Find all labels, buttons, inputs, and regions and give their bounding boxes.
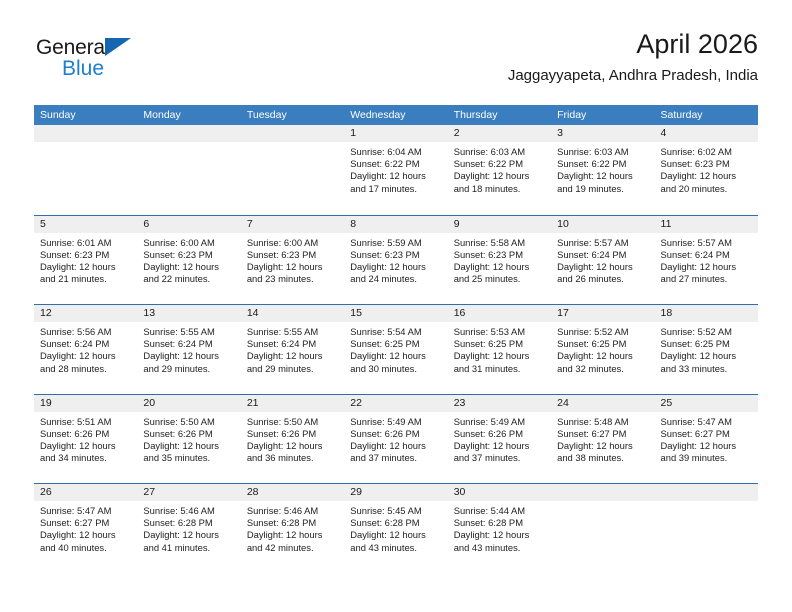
day-cell[interactable]: 4 Sunrise: 6:02 AM Sunset: 6:23 PM Dayli… <box>655 125 758 215</box>
daylight-text-line2: and 34 minutes. <box>40 452 131 464</box>
day-number <box>241 125 344 142</box>
page-header: General Blue April 2026 Jaggayyapeta, An… <box>34 28 758 98</box>
sunrise-text: Sunrise: 5:49 AM <box>350 416 441 428</box>
daylight-text-line1: Daylight: 12 hours <box>247 529 338 541</box>
sunset-text: Sunset: 6:25 PM <box>557 338 648 350</box>
day-details: Sunrise: 5:55 AM Sunset: 6:24 PM Dayligh… <box>137 322 240 375</box>
sunrise-text: Sunrise: 6:03 AM <box>557 146 648 158</box>
day-details: Sunrise: 5:49 AM Sunset: 6:26 PM Dayligh… <box>448 412 551 465</box>
calendar-grid: Sunday Monday Tuesday Wednesday Thursday… <box>34 105 758 573</box>
day-cell <box>241 125 344 215</box>
sunset-text: Sunset: 6:23 PM <box>350 249 441 261</box>
day-cell[interactable]: 19 Sunrise: 5:51 AM Sunset: 6:26 PM Dayl… <box>34 395 137 484</box>
daylight-text-line2: and 21 minutes. <box>40 273 131 285</box>
day-number <box>137 125 240 142</box>
daylight-text-line1: Daylight: 12 hours <box>557 350 648 362</box>
day-details: Sunrise: 6:00 AM Sunset: 6:23 PM Dayligh… <box>137 233 240 286</box>
sunrise-text: Sunrise: 6:01 AM <box>40 237 131 249</box>
daylight-text-line2: and 38 minutes. <box>557 452 648 464</box>
day-cell[interactable]: 6 Sunrise: 6:00 AM Sunset: 6:23 PM Dayli… <box>137 216 240 305</box>
day-number: 12 <box>34 305 137 322</box>
sunrise-text: Sunrise: 5:56 AM <box>40 326 131 338</box>
day-details: Sunrise: 6:01 AM Sunset: 6:23 PM Dayligh… <box>34 233 137 286</box>
location-subtitle: Jaggayyapeta, Andhra Pradesh, India <box>508 67 758 85</box>
week-row: 5 Sunrise: 6:01 AM Sunset: 6:23 PM Dayli… <box>34 215 758 305</box>
day-number: 4 <box>655 125 758 142</box>
sunset-text: Sunset: 6:26 PM <box>40 428 131 440</box>
day-number: 24 <box>551 395 654 412</box>
weekday-header-wednesday: Wednesday <box>344 105 447 125</box>
week-row: 19 Sunrise: 5:51 AM Sunset: 6:26 PM Dayl… <box>34 394 758 484</box>
day-number: 17 <box>551 305 654 322</box>
day-cell[interactable]: 7 Sunrise: 6:00 AM Sunset: 6:23 PM Dayli… <box>241 216 344 305</box>
day-cell <box>655 484 758 573</box>
day-number: 5 <box>34 216 137 233</box>
sunrise-text: Sunrise: 5:52 AM <box>557 326 648 338</box>
day-cell[interactable]: 12 Sunrise: 5:56 AM Sunset: 6:24 PM Dayl… <box>34 305 137 394</box>
day-number: 6 <box>137 216 240 233</box>
sunrise-text: Sunrise: 5:52 AM <box>661 326 752 338</box>
sunrise-text: Sunrise: 5:57 AM <box>557 237 648 249</box>
daylight-text-line2: and 32 minutes. <box>557 363 648 375</box>
day-number: 30 <box>448 484 551 501</box>
day-number: 15 <box>344 305 447 322</box>
sunset-text: Sunset: 6:25 PM <box>350 338 441 350</box>
day-number: 7 <box>241 216 344 233</box>
day-details: Sunrise: 5:55 AM Sunset: 6:24 PM Dayligh… <box>241 322 344 375</box>
day-number: 3 <box>551 125 654 142</box>
daylight-text-line2: and 19 minutes. <box>557 183 648 195</box>
sunset-text: Sunset: 6:27 PM <box>661 428 752 440</box>
day-cell[interactable]: 17 Sunrise: 5:52 AM Sunset: 6:25 PM Dayl… <box>551 305 654 394</box>
daylight-text-line2: and 18 minutes. <box>454 183 545 195</box>
sunset-text: Sunset: 6:27 PM <box>40 517 131 529</box>
sunset-text: Sunset: 6:27 PM <box>557 428 648 440</box>
day-number <box>655 484 758 501</box>
day-details: Sunrise: 6:00 AM Sunset: 6:23 PM Dayligh… <box>241 233 344 286</box>
sunset-text: Sunset: 6:28 PM <box>454 517 545 529</box>
sunset-text: Sunset: 6:24 PM <box>40 338 131 350</box>
daylight-text-line1: Daylight: 12 hours <box>454 261 545 273</box>
day-cell[interactable]: 21 Sunrise: 5:50 AM Sunset: 6:26 PM Dayl… <box>241 395 344 484</box>
sunset-text: Sunset: 6:23 PM <box>143 249 234 261</box>
daylight-text-line2: and 39 minutes. <box>661 452 752 464</box>
daylight-text-line2: and 42 minutes. <box>247 542 338 554</box>
day-number: 2 <box>448 125 551 142</box>
day-number: 9 <box>448 216 551 233</box>
day-details: Sunrise: 5:54 AM Sunset: 6:25 PM Dayligh… <box>344 322 447 375</box>
daylight-text-line1: Daylight: 12 hours <box>454 529 545 541</box>
sunset-text: Sunset: 6:23 PM <box>40 249 131 261</box>
sunrise-text: Sunrise: 5:47 AM <box>661 416 752 428</box>
sunset-text: Sunset: 6:22 PM <box>350 158 441 170</box>
day-number: 11 <box>655 216 758 233</box>
weekday-header-row: Sunday Monday Tuesday Wednesday Thursday… <box>34 105 758 125</box>
sunrise-text: Sunrise: 5:58 AM <box>454 237 545 249</box>
daylight-text-line1: Daylight: 12 hours <box>143 529 234 541</box>
sunrise-text: Sunrise: 5:57 AM <box>661 237 752 249</box>
sunset-text: Sunset: 6:24 PM <box>143 338 234 350</box>
daylight-text-line1: Daylight: 12 hours <box>454 170 545 182</box>
day-cell[interactable]: 9 Sunrise: 5:58 AM Sunset: 6:23 PM Dayli… <box>448 216 551 305</box>
page-title: April 2026 <box>508 28 758 60</box>
day-details: Sunrise: 5:45 AM Sunset: 6:28 PM Dayligh… <box>344 501 447 554</box>
daylight-text-line1: Daylight: 12 hours <box>350 261 441 273</box>
sunset-text: Sunset: 6:25 PM <box>661 338 752 350</box>
day-cell[interactable]: 27 Sunrise: 5:46 AM Sunset: 6:28 PM Dayl… <box>137 484 240 573</box>
day-details: Sunrise: 6:03 AM Sunset: 6:22 PM Dayligh… <box>551 142 654 195</box>
week-row: 26 Sunrise: 5:47 AM Sunset: 6:27 PM Dayl… <box>34 483 758 573</box>
daylight-text-line2: and 22 minutes. <box>143 273 234 285</box>
day-cell[interactable]: 18 Sunrise: 5:52 AM Sunset: 6:25 PM Dayl… <box>655 305 758 394</box>
sunset-text: Sunset: 6:23 PM <box>454 249 545 261</box>
day-number: 10 <box>551 216 654 233</box>
daylight-text-line2: and 23 minutes. <box>247 273 338 285</box>
title-block: April 2026 Jaggayyapeta, Andhra Pradesh,… <box>508 28 758 85</box>
daylight-text-line2: and 31 minutes. <box>454 363 545 375</box>
day-number: 14 <box>241 305 344 322</box>
daylight-text-line2: and 35 minutes. <box>143 452 234 464</box>
day-cell[interactable]: 20 Sunrise: 5:50 AM Sunset: 6:26 PM Dayl… <box>137 395 240 484</box>
daylight-text-line1: Daylight: 12 hours <box>143 440 234 452</box>
day-details: Sunrise: 5:58 AM Sunset: 6:23 PM Dayligh… <box>448 233 551 286</box>
day-cell[interactable]: 24 Sunrise: 5:48 AM Sunset: 6:27 PM Dayl… <box>551 395 654 484</box>
day-number: 13 <box>137 305 240 322</box>
day-cell[interactable]: 15 Sunrise: 5:54 AM Sunset: 6:25 PM Dayl… <box>344 305 447 394</box>
day-cell <box>34 125 137 215</box>
day-number: 29 <box>344 484 447 501</box>
day-cell[interactable]: 22 Sunrise: 5:49 AM Sunset: 6:26 PM Dayl… <box>344 395 447 484</box>
sunrise-text: Sunrise: 5:59 AM <box>350 237 441 249</box>
day-details: Sunrise: 6:03 AM Sunset: 6:22 PM Dayligh… <box>448 142 551 195</box>
daylight-text-line2: and 33 minutes. <box>661 363 752 375</box>
day-number: 25 <box>655 395 758 412</box>
sunset-text: Sunset: 6:22 PM <box>557 158 648 170</box>
sunrise-text: Sunrise: 5:51 AM <box>40 416 131 428</box>
sunrise-text: Sunrise: 5:48 AM <box>557 416 648 428</box>
sunset-text: Sunset: 6:26 PM <box>350 428 441 440</box>
sunset-text: Sunset: 6:24 PM <box>557 249 648 261</box>
daylight-text-line1: Daylight: 12 hours <box>557 170 648 182</box>
daylight-text-line2: and 36 minutes. <box>247 452 338 464</box>
day-cell[interactable]: 14 Sunrise: 5:55 AM Sunset: 6:24 PM Dayl… <box>241 305 344 394</box>
day-number: 8 <box>344 216 447 233</box>
day-details: Sunrise: 5:56 AM Sunset: 6:24 PM Dayligh… <box>34 322 137 375</box>
day-cell[interactable]: 5 Sunrise: 6:01 AM Sunset: 6:23 PM Dayli… <box>34 216 137 305</box>
sunrise-text: Sunrise: 5:49 AM <box>454 416 545 428</box>
daylight-text-line1: Daylight: 12 hours <box>661 350 752 362</box>
daylight-text-line2: and 27 minutes. <box>661 273 752 285</box>
sunrise-text: Sunrise: 5:45 AM <box>350 505 441 517</box>
day-details: Sunrise: 5:52 AM Sunset: 6:25 PM Dayligh… <box>551 322 654 375</box>
day-cell[interactable]: 3 Sunrise: 6:03 AM Sunset: 6:22 PM Dayli… <box>551 125 654 215</box>
sunset-text: Sunset: 6:26 PM <box>454 428 545 440</box>
calendar-page: General Blue April 2026 Jaggayyapeta, An… <box>0 0 792 612</box>
daylight-text-line1: Daylight: 12 hours <box>350 440 441 452</box>
daylight-text-line1: Daylight: 12 hours <box>247 440 338 452</box>
day-number: 21 <box>241 395 344 412</box>
day-cell[interactable]: 8 Sunrise: 5:59 AM Sunset: 6:23 PM Dayli… <box>344 216 447 305</box>
daylight-text-line1: Daylight: 12 hours <box>661 170 752 182</box>
day-details <box>655 501 758 505</box>
sunset-text: Sunset: 6:23 PM <box>661 158 752 170</box>
day-cell[interactable]: 29 Sunrise: 5:45 AM Sunset: 6:28 PM Dayl… <box>344 484 447 573</box>
daylight-text-line1: Daylight: 12 hours <box>143 350 234 362</box>
logo-text-blue: Blue <box>62 57 104 81</box>
day-cell[interactable]: 25 Sunrise: 5:47 AM Sunset: 6:27 PM Dayl… <box>655 395 758 484</box>
daylight-text-line2: and 37 minutes. <box>350 452 441 464</box>
daylight-text-line1: Daylight: 12 hours <box>247 261 338 273</box>
sunset-text: Sunset: 6:26 PM <box>143 428 234 440</box>
weekday-header-sunday: Sunday <box>34 105 137 125</box>
day-cell[interactable]: 16 Sunrise: 5:53 AM Sunset: 6:25 PM Dayl… <box>448 305 551 394</box>
sunset-text: Sunset: 6:23 PM <box>247 249 338 261</box>
day-details: Sunrise: 6:04 AM Sunset: 6:22 PM Dayligh… <box>344 142 447 195</box>
day-details: Sunrise: 5:47 AM Sunset: 6:27 PM Dayligh… <box>34 501 137 554</box>
day-number <box>34 125 137 142</box>
day-number: 28 <box>241 484 344 501</box>
daylight-text-line1: Daylight: 12 hours <box>661 261 752 273</box>
day-details: Sunrise: 5:59 AM Sunset: 6:23 PM Dayligh… <box>344 233 447 286</box>
day-details <box>34 142 137 146</box>
day-details: Sunrise: 6:02 AM Sunset: 6:23 PM Dayligh… <box>655 142 758 195</box>
sunrise-text: Sunrise: 5:55 AM <box>247 326 338 338</box>
daylight-text-line1: Daylight: 12 hours <box>350 529 441 541</box>
day-number: 22 <box>344 395 447 412</box>
day-details <box>137 142 240 146</box>
daylight-text-line1: Daylight: 12 hours <box>454 350 545 362</box>
day-details: Sunrise: 5:46 AM Sunset: 6:28 PM Dayligh… <box>241 501 344 554</box>
daylight-text-line2: and 41 minutes. <box>143 542 234 554</box>
day-cell[interactable]: 2 Sunrise: 6:03 AM Sunset: 6:22 PM Dayli… <box>448 125 551 215</box>
sunset-text: Sunset: 6:24 PM <box>247 338 338 350</box>
daylight-text-line1: Daylight: 12 hours <box>247 350 338 362</box>
sunrise-text: Sunrise: 5:50 AM <box>247 416 338 428</box>
general-blue-logo[interactable]: General Blue <box>34 36 234 92</box>
daylight-text-line1: Daylight: 12 hours <box>40 261 131 273</box>
triangle-icon <box>105 38 131 56</box>
day-details: Sunrise: 5:48 AM Sunset: 6:27 PM Dayligh… <box>551 412 654 465</box>
daylight-text-line2: and 29 minutes. <box>143 363 234 375</box>
day-details: Sunrise: 5:51 AM Sunset: 6:26 PM Dayligh… <box>34 412 137 465</box>
sunrise-text: Sunrise: 5:44 AM <box>454 505 545 517</box>
day-cell[interactable]: 28 Sunrise: 5:46 AM Sunset: 6:28 PM Dayl… <box>241 484 344 573</box>
day-number: 27 <box>137 484 240 501</box>
daylight-text-line2: and 26 minutes. <box>557 273 648 285</box>
weekday-header-monday: Monday <box>137 105 240 125</box>
day-cell[interactable]: 11 Sunrise: 5:57 AM Sunset: 6:24 PM Dayl… <box>655 216 758 305</box>
sunrise-text: Sunrise: 5:47 AM <box>40 505 131 517</box>
sunset-text: Sunset: 6:26 PM <box>247 428 338 440</box>
day-details: Sunrise: 5:47 AM Sunset: 6:27 PM Dayligh… <box>655 412 758 465</box>
day-details: Sunrise: 5:49 AM Sunset: 6:26 PM Dayligh… <box>344 412 447 465</box>
sunrise-text: Sunrise: 6:00 AM <box>143 237 234 249</box>
day-number: 16 <box>448 305 551 322</box>
sunrise-text: Sunrise: 6:00 AM <box>247 237 338 249</box>
day-details: Sunrise: 5:50 AM Sunset: 6:26 PM Dayligh… <box>137 412 240 465</box>
day-cell[interactable]: 30 Sunrise: 5:44 AM Sunset: 6:28 PM Dayl… <box>448 484 551 573</box>
day-number: 1 <box>344 125 447 142</box>
sunset-text: Sunset: 6:28 PM <box>350 517 441 529</box>
daylight-text-line1: Daylight: 12 hours <box>40 350 131 362</box>
weekday-header-saturday: Saturday <box>655 105 758 125</box>
day-details: Sunrise: 5:50 AM Sunset: 6:26 PM Dayligh… <box>241 412 344 465</box>
day-details: Sunrise: 5:57 AM Sunset: 6:24 PM Dayligh… <box>655 233 758 286</box>
day-details <box>241 142 344 146</box>
day-details: Sunrise: 5:57 AM Sunset: 6:24 PM Dayligh… <box>551 233 654 286</box>
day-cell[interactable]: 23 Sunrise: 5:49 AM Sunset: 6:26 PM Dayl… <box>448 395 551 484</box>
daylight-text-line1: Daylight: 12 hours <box>557 440 648 452</box>
sunrise-text: Sunrise: 5:53 AM <box>454 326 545 338</box>
daylight-text-line1: Daylight: 12 hours <box>661 440 752 452</box>
week-row: 12 Sunrise: 5:56 AM Sunset: 6:24 PM Dayl… <box>34 304 758 394</box>
day-number: 19 <box>34 395 137 412</box>
day-cell[interactable]: 26 Sunrise: 5:47 AM Sunset: 6:27 PM Dayl… <box>34 484 137 573</box>
daylight-text-line1: Daylight: 12 hours <box>557 261 648 273</box>
daylight-text-line1: Daylight: 12 hours <box>40 529 131 541</box>
week-row: 1 Sunrise: 6:04 AM Sunset: 6:22 PM Dayli… <box>34 125 758 215</box>
sunrise-text: Sunrise: 6:04 AM <box>350 146 441 158</box>
day-number: 20 <box>137 395 240 412</box>
day-details: Sunrise: 5:44 AM Sunset: 6:28 PM Dayligh… <box>448 501 551 554</box>
daylight-text-line2: and 40 minutes. <box>40 542 131 554</box>
weekday-header-friday: Friday <box>551 105 654 125</box>
day-cell <box>137 125 240 215</box>
sunset-text: Sunset: 6:22 PM <box>454 158 545 170</box>
sunrise-text: Sunrise: 5:46 AM <box>247 505 338 517</box>
day-cell <box>551 484 654 573</box>
daylight-text-line2: and 28 minutes. <box>40 363 131 375</box>
sunset-text: Sunset: 6:24 PM <box>661 249 752 261</box>
sunrise-text: Sunrise: 5:54 AM <box>350 326 441 338</box>
sunset-text: Sunset: 6:25 PM <box>454 338 545 350</box>
weekday-header-tuesday: Tuesday <box>241 105 344 125</box>
sunrise-text: Sunrise: 5:55 AM <box>143 326 234 338</box>
daylight-text-line1: Daylight: 12 hours <box>350 350 441 362</box>
daylight-text-line1: Daylight: 12 hours <box>454 440 545 452</box>
weekday-header-thursday: Thursday <box>448 105 551 125</box>
day-cell[interactable]: 13 Sunrise: 5:55 AM Sunset: 6:24 PM Dayl… <box>137 305 240 394</box>
sunrise-text: Sunrise: 5:46 AM <box>143 505 234 517</box>
daylight-text-line1: Daylight: 12 hours <box>143 261 234 273</box>
day-number: 23 <box>448 395 551 412</box>
daylight-text-line2: and 17 minutes. <box>350 183 441 195</box>
sunrise-text: Sunrise: 6:02 AM <box>661 146 752 158</box>
daylight-text-line2: and 25 minutes. <box>454 273 545 285</box>
sunset-text: Sunset: 6:28 PM <box>143 517 234 529</box>
daylight-text-line2: and 37 minutes. <box>454 452 545 464</box>
daylight-text-line2: and 20 minutes. <box>661 183 752 195</box>
daylight-text-line2: and 29 minutes. <box>247 363 338 375</box>
day-cell[interactable]: 1 Sunrise: 6:04 AM Sunset: 6:22 PM Dayli… <box>344 125 447 215</box>
daylight-text-line2: and 24 minutes. <box>350 273 441 285</box>
day-details: Sunrise: 5:53 AM Sunset: 6:25 PM Dayligh… <box>448 322 551 375</box>
day-cell[interactable]: 10 Sunrise: 5:57 AM Sunset: 6:24 PM Dayl… <box>551 216 654 305</box>
sunset-text: Sunset: 6:28 PM <box>247 517 338 529</box>
daylight-text-line2: and 43 minutes. <box>350 542 441 554</box>
daylight-text-line2: and 43 minutes. <box>454 542 545 554</box>
day-details <box>551 501 654 505</box>
day-details: Sunrise: 5:46 AM Sunset: 6:28 PM Dayligh… <box>137 501 240 554</box>
sunrise-text: Sunrise: 5:50 AM <box>143 416 234 428</box>
sunrise-text: Sunrise: 6:03 AM <box>454 146 545 158</box>
daylight-text-line1: Daylight: 12 hours <box>350 170 441 182</box>
daylight-text-line2: and 30 minutes. <box>350 363 441 375</box>
day-number: 26 <box>34 484 137 501</box>
daylight-text-line1: Daylight: 12 hours <box>40 440 131 452</box>
day-details: Sunrise: 5:52 AM Sunset: 6:25 PM Dayligh… <box>655 322 758 375</box>
day-number <box>551 484 654 501</box>
day-number: 18 <box>655 305 758 322</box>
